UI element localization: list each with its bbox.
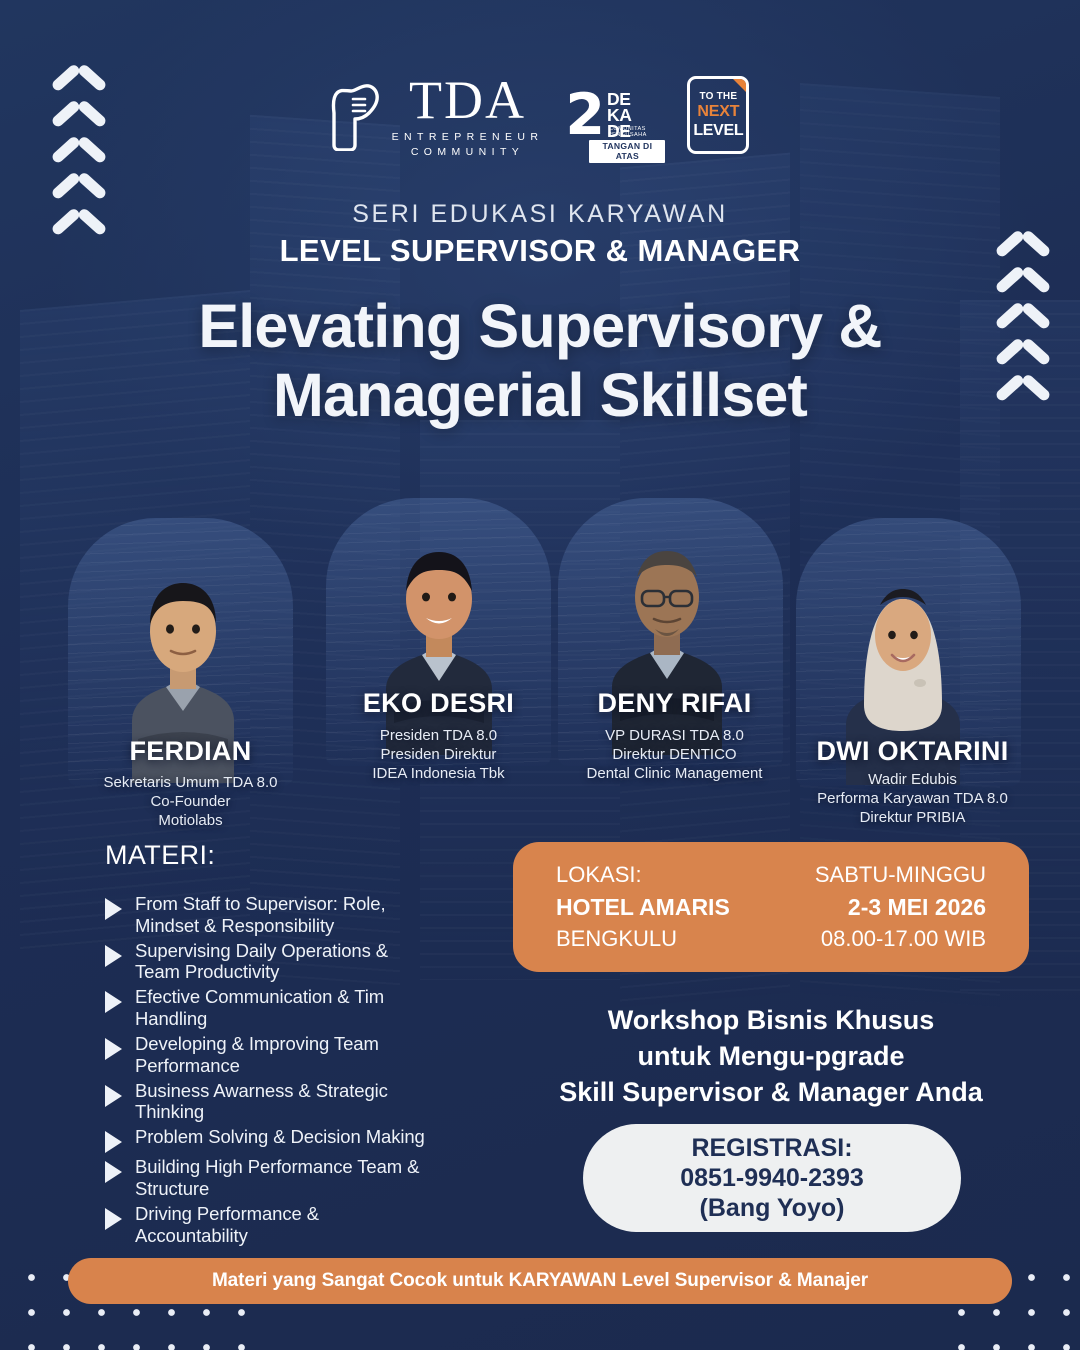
registration-phone[interactable]: 0851-9940-2393: [680, 1163, 864, 1193]
play-triangle-icon: [105, 991, 122, 1013]
to-the-next-level-logo: TO THE NEXT LEVEL: [687, 76, 749, 154]
materi-item-label: Business Awarness & Strategic Thinking: [135, 1080, 435, 1124]
materi-item: Supervising Daily Operations & Team Prod…: [105, 940, 435, 984]
dekade-tagline-band: TANGAN DI ATAS: [589, 140, 665, 163]
speaker-card: FERDIAN Sekretaris Umum TDA 8.0 Co-Found…: [68, 518, 313, 818]
schedule-column: SABTU-MINGGU 2-3 MEI 2026 08.00-17.00 WI…: [815, 859, 986, 954]
materi-item-label: Supervising Daily Operations & Team Prod…: [135, 940, 435, 984]
event-info-box: LOKASI: HOTEL AMARIS BENGKULU SABTU-MING…: [513, 842, 1029, 972]
materi-item: Building High Performance Team & Structu…: [105, 1156, 435, 1200]
speaker-name: DENY RIFAI: [552, 688, 797, 719]
event-days: SABTU-MINGGU: [815, 859, 986, 890]
next-level-line2: NEXT: [697, 103, 739, 121]
poster-canvas: TDA ENTREPRENEUR COMMUNITY 2 DE KA DE CO…: [0, 0, 1080, 1350]
speaker-card: DENY RIFAI VP DURASI TDA 8.0 Direktur DE…: [552, 498, 797, 798]
lokasi-label: LOKASI:: [556, 859, 730, 890]
materi-item: Driving Performance & Accountability: [105, 1203, 435, 1247]
registration-label: REGISTRASI:: [691, 1133, 852, 1163]
materi-section: MATERI: From Staff to Supervisor: Role, …: [105, 840, 435, 1250]
play-triangle-icon: [105, 945, 122, 967]
play-triangle-icon: [105, 1085, 122, 1107]
speaker-row: FERDIAN Sekretaris Umum TDA 8.0 Co-Found…: [0, 490, 1080, 820]
speaker-photo: [364, 525, 514, 760]
event-time: 08.00-17.00 WIB: [815, 923, 986, 954]
materi-item: From Staff to Supervisor: Role, Mindset …: [105, 893, 435, 937]
materi-list: From Staff to Supervisor: Role, Mindset …: [105, 893, 435, 1247]
play-triangle-icon: [105, 1131, 122, 1153]
event-date: 2-3 MEI 2026: [815, 891, 986, 924]
tda-logo: TDA ENTREPRENEUR COMMUNITY: [331, 73, 544, 157]
logo-row: TDA ENTREPRENEUR COMMUNITY 2 DE KA DE CO…: [0, 68, 1080, 163]
speaker-card: DWI OKTARINI Wadir Edubis Performa Karya…: [790, 518, 1035, 818]
materi-item-label: Building High Performance Team & Structu…: [135, 1156, 435, 1200]
play-triangle-icon: [105, 1208, 122, 1230]
speaker-role: Sekretaris Umum TDA 8.0 Co-Founder Motio…: [68, 773, 313, 831]
materi-item: Efective Communication & Tim Handling: [105, 986, 435, 1030]
materi-item: Problem Solving & Decision Making: [105, 1126, 435, 1153]
speaker-role: Presiden TDA 8.0 Presiden Direktur IDEA …: [316, 726, 561, 784]
speaker-photo: [592, 525, 742, 760]
tda-sub-community: COMMUNITY: [411, 147, 524, 158]
venue-name: HOTEL AMARIS: [556, 891, 730, 924]
dekade-footer: COMUNITAS PENGUSAHA TANGAN DI ATAS: [589, 126, 665, 163]
registration-contact: (Bang Yoyo): [700, 1193, 845, 1223]
materi-item-label: Efective Communication & Tim Handling: [135, 986, 435, 1030]
subkicker-text: LEVEL SUPERVISOR & MANAGER: [0, 233, 1080, 269]
tda-wordmark: TDA ENTREPRENEUR COMMUNITY: [392, 73, 544, 157]
page-title: Elevating Supervisory & Managerial Skill…: [0, 292, 1080, 430]
tda-main-text: TDA: [409, 73, 526, 127]
speaker-name: FERDIAN: [68, 736, 313, 767]
city-name: BENGKULU: [556, 923, 730, 954]
speaker-name: DWI OKTARINI: [790, 736, 1035, 767]
dekade-tagline-small: COMUNITAS PENGUSAHA: [589, 126, 665, 138]
pitch-text: Workshop Bisnis Khusus untuk Mengu-pgrad…: [513, 1003, 1029, 1111]
materi-item-label: From Staff to Supervisor: Role, Mindset …: [135, 893, 435, 937]
speaker-card: EKO DESRI Presiden TDA 8.0 Presiden Dire…: [316, 498, 561, 798]
next-level-line3: LEVEL: [693, 122, 743, 140]
tda-sub-entrepreneur: ENTREPRENEUR: [392, 132, 544, 143]
handshake-fist-icon: [331, 79, 381, 151]
footer-banner: Materi yang Sangat Cocok untuk KARYAWAN …: [68, 1258, 1012, 1304]
materi-title: MATERI:: [105, 840, 435, 871]
materi-item-label: Problem Solving & Decision Making: [135, 1126, 425, 1148]
location-column: LOKASI: HOTEL AMARIS BENGKULU: [556, 859, 730, 954]
corner-triangle-icon: [731, 77, 748, 94]
speaker-name: EKO DESRI: [316, 688, 561, 719]
play-triangle-icon: [105, 898, 122, 920]
speaker-role: VP DURASI TDA 8.0 Direktur DENTICO Denta…: [552, 726, 797, 784]
materi-item-label: Driving Performance & Accountability: [135, 1203, 435, 1247]
play-triangle-icon: [105, 1161, 122, 1183]
kicker-text: SERI EDUKASI KARYAWAN: [0, 200, 1080, 229]
materi-item: Business Awarness & Strategic Thinking: [105, 1080, 435, 1124]
speaker-role: Wadir Edubis Performa Karyawan TDA 8.0 D…: [790, 770, 1035, 828]
footer-text: Materi yang Sangat Cocok untuk KARYAWAN …: [212, 1270, 868, 1292]
registration-box[interactable]: REGISTRASI: 0851-9940-2393 (Bang Yoyo): [583, 1124, 961, 1232]
materi-item-label: Developing & Improving Team Performance: [135, 1033, 435, 1077]
materi-item: Developing & Improving Team Performance: [105, 1033, 435, 1077]
play-triangle-icon: [105, 1038, 122, 1060]
